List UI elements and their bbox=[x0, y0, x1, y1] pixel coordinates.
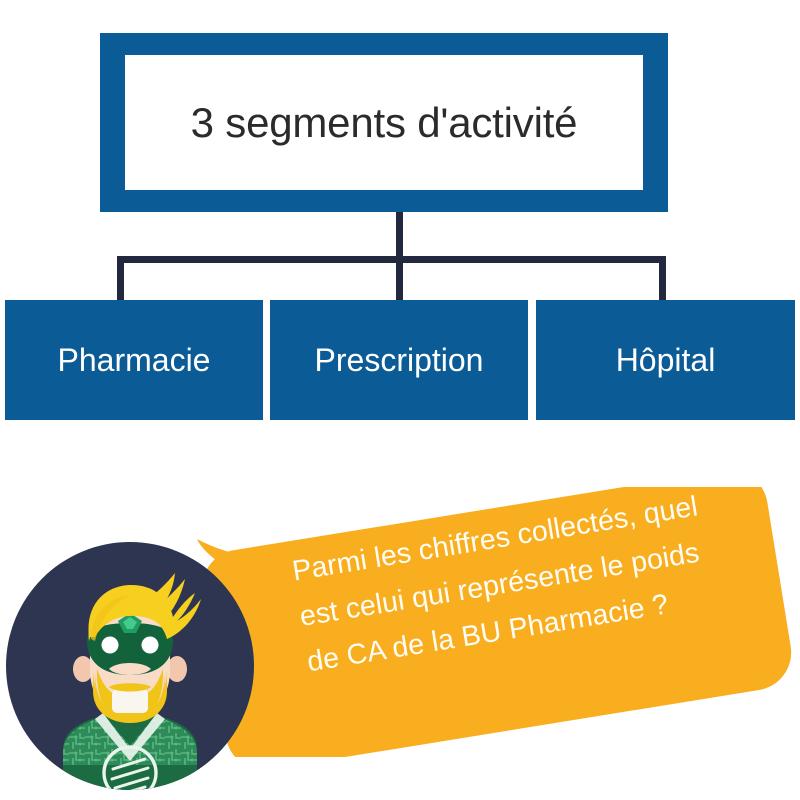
avatar-eye-left bbox=[102, 637, 119, 654]
connector-drop-middle bbox=[396, 256, 403, 300]
connector-drop-left bbox=[117, 256, 124, 300]
diagram-canvas: 3 segments d'activité Pharmacie Prescrip… bbox=[0, 0, 800, 800]
segment-label: Hôpital bbox=[616, 344, 716, 376]
segment-box-prescription: Prescription bbox=[270, 300, 528, 420]
connector-stem-top bbox=[396, 212, 403, 259]
speech-bubble: Parmi les chiffres collectés, quel est c… bbox=[197, 487, 797, 757]
title-box: 3 segments d'activité bbox=[100, 33, 668, 212]
segment-label: Prescription bbox=[315, 344, 484, 376]
connector-drop-right bbox=[659, 256, 666, 300]
avatar-eye-right bbox=[142, 637, 159, 654]
page-title: 3 segments d'activité bbox=[191, 102, 578, 144]
avatar-mouth bbox=[112, 689, 148, 713]
segment-box-hopital: Hôpital bbox=[536, 300, 795, 420]
segment-box-pharmacie: Pharmacie bbox=[5, 300, 263, 420]
connector-horizontal-bar bbox=[117, 256, 666, 263]
avatar bbox=[5, 541, 255, 791]
segment-label: Pharmacie bbox=[58, 344, 211, 376]
title-box-inner: 3 segments d'activité bbox=[125, 55, 643, 190]
